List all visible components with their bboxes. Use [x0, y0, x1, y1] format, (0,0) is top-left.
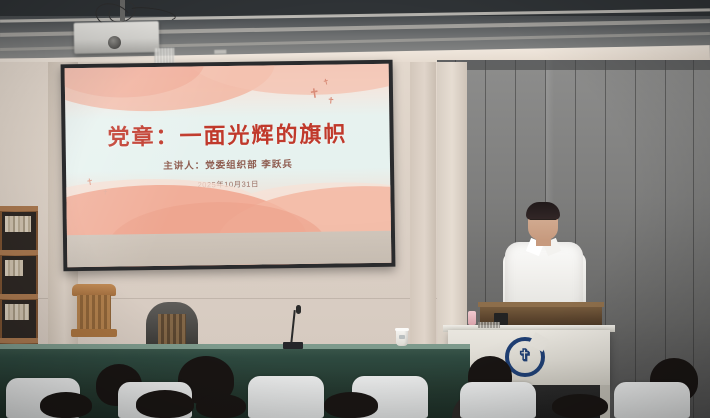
projector-lens-icon	[108, 36, 121, 49]
speaker-hair	[526, 202, 560, 220]
audience-head	[324, 392, 378, 418]
audience-head	[40, 392, 92, 418]
podium-desktop-edge	[478, 302, 604, 307]
audience-chair	[460, 382, 536, 418]
wall-top-shadow	[437, 60, 710, 70]
microphone-icon	[296, 305, 301, 314]
audience-head	[196, 394, 246, 418]
glasses-icon	[530, 219, 556, 226]
paper-cup-rim	[395, 328, 409, 331]
audience-chair	[248, 376, 324, 418]
wooden-chair	[72, 284, 116, 344]
projection-screen[interactable]: ✝ ✝ ✝ 党章：一面光辉的旗帜 主讲人：党委组织部 李跃兵 2025年10月3…	[65, 64, 392, 268]
projector-label	[214, 50, 226, 54]
dark-chair	[146, 302, 198, 348]
audience-head	[552, 394, 608, 418]
screen-glare	[65, 64, 392, 268]
audience-head	[136, 390, 194, 418]
wall-pillar	[437, 62, 467, 352]
bookshelf	[0, 206, 38, 356]
paper-cup-logo	[399, 335, 405, 339]
projection-screen-frame: ✝ ✝ ✝ 党章：一面光辉的旗帜 主讲人：党委组织部 李跃兵 2025年10月3…	[61, 60, 396, 272]
podium-nameplate	[478, 322, 500, 328]
water-bottle	[468, 311, 476, 325]
lecture-hall-photo: ✝ ✝ ✝ 党章：一面光辉的旗帜 主讲人：党委组织部 李跃兵 2025年10月3…	[0, 0, 710, 418]
audience-chair	[614, 382, 690, 418]
wall-column	[410, 62, 436, 352]
microphone-base	[283, 342, 303, 349]
emblem-figure-icon: ✞	[518, 346, 532, 368]
